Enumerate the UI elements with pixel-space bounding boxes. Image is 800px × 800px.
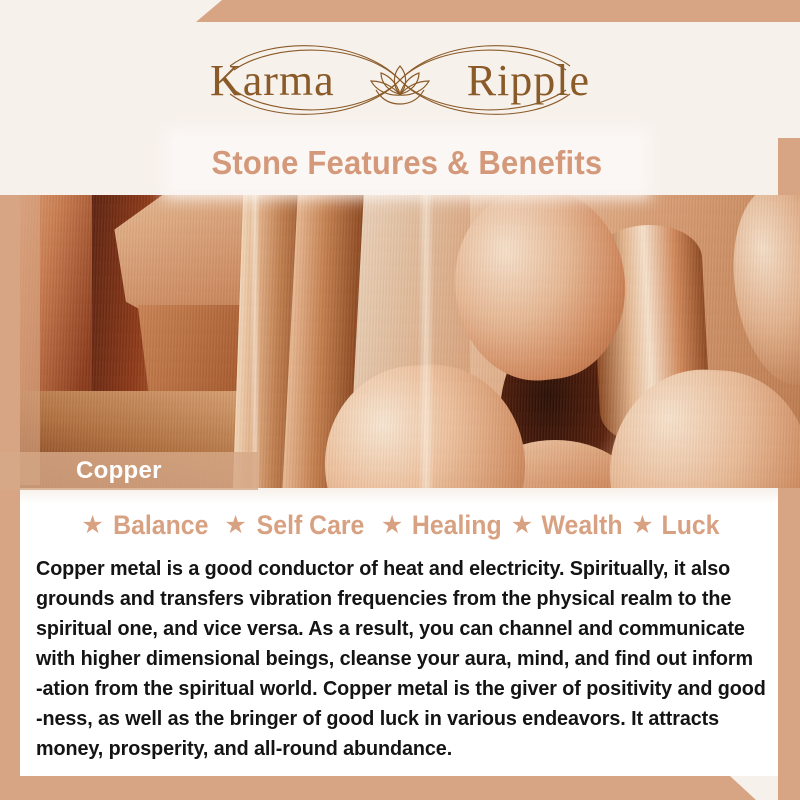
description-line: money, prosperity, and all-round abundan… [36,734,740,764]
star-icon: ★ [224,513,246,538]
benefit-keyword: Balance [113,510,208,541]
brand-name-first: Karma [210,55,335,106]
brand-name-second: Ripple [467,55,590,106]
description-text: Copper metal is a good conductor of heat… [36,554,740,764]
frame-top-bar [0,0,800,22]
content-top-fade [20,488,778,504]
benefit-keyword-row: ★Balance★Self Care★Healing★Wealth★Luck [20,510,778,541]
star-icon: ★ [511,513,533,538]
description-line: spiritual one, and vice versa. As a resu… [36,614,740,644]
photo-highlight-b [418,195,434,488]
brand-logo: Karma Ripple [190,30,610,130]
copper-rods-photo [0,195,800,488]
section-title-band: Stone Features & Benefits [173,137,641,189]
description-line: with higher dimensional beings, cleanse … [36,644,740,674]
star-icon: ★ [81,513,103,538]
description-line: Copper metal is a good conductor of heat… [36,554,740,584]
frame-bottom-bar [0,776,800,800]
benefit-keyword: Self Care [256,510,364,541]
benefit-keyword: Healing [412,510,502,541]
content-panel: ★Balance★Self Care★Healing★Wealth★Luck C… [20,488,778,776]
description-line: -ation from the spiritual world. Copper … [36,674,740,704]
lotus-icon [371,66,429,104]
frame-left-bar [0,195,20,800]
star-icon: ★ [631,513,653,538]
photo-artwork [0,195,800,488]
description-line: -ness, as well as the bringer of good lu… [36,704,740,734]
page-title: Stone Features & Benefits [212,144,603,182]
photo-caption-label: Copper [76,457,162,485]
brand-header: Karma Ripple [0,22,800,138]
star-icon: ★ [381,513,403,538]
photo-highlight-a [250,195,260,488]
benefit-keyword: Wealth [542,510,623,541]
description-line: grounds and transfers vibration frequenc… [36,584,740,614]
photo-caption-band: Copper [0,452,258,490]
product-info-card: Karma Ripple Stone Features & Benefits [0,0,800,800]
benefit-keyword: Luck [661,510,719,541]
